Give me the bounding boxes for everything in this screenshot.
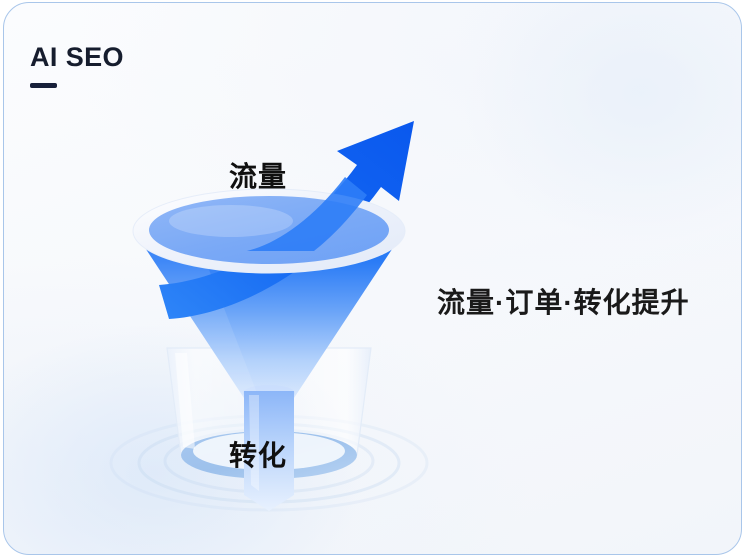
background-wash-right bbox=[461, 2, 742, 243]
title-underline-rule bbox=[30, 83, 57, 88]
promo-card: AI SEO 流量·订单·转化提升 bbox=[3, 2, 742, 555]
screenshot-canvas: AI SEO 流量·订单·转化提升 bbox=[0, 0, 747, 560]
tagline-text: 流量·订单·转化提升 bbox=[437, 281, 690, 321]
page-title: AI SEO bbox=[30, 41, 124, 88]
page-title-text: AI SEO bbox=[30, 41, 124, 73]
funnel-label-traffic: 流量 bbox=[229, 155, 287, 195]
funnel-label-conversion: 转化 bbox=[229, 434, 287, 474]
